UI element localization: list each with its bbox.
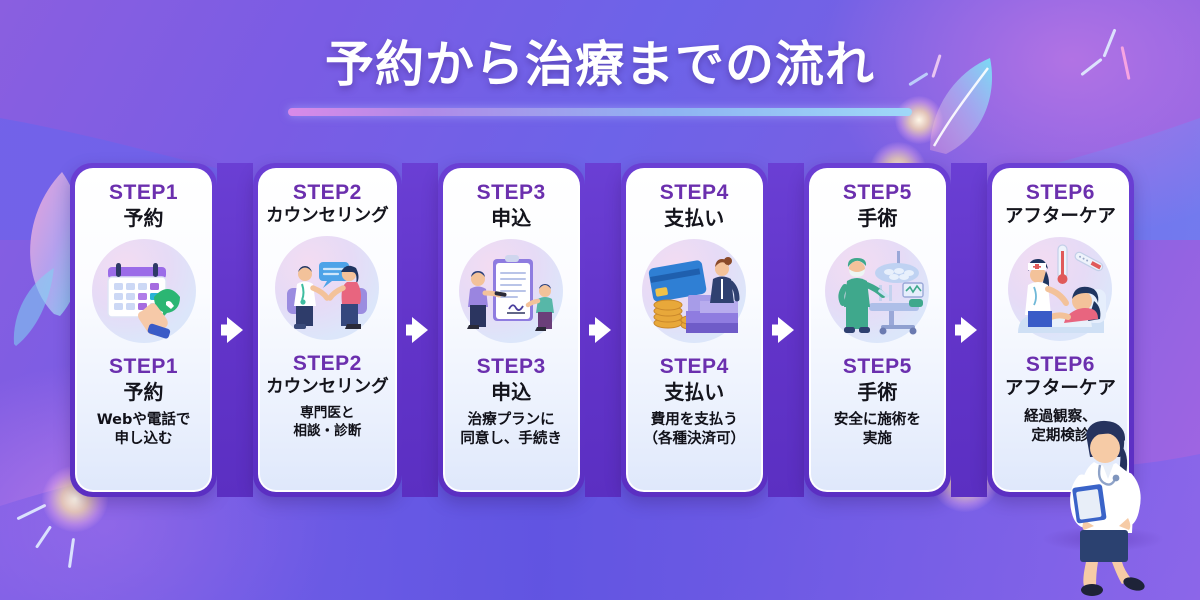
step-label-top: STEP2 [293, 181, 362, 205]
step-label-top: STEP4 [660, 181, 729, 205]
step-title-bottom: 支払い [660, 380, 729, 404]
step-title-top: 支払い [664, 206, 724, 230]
arrow-right-icon [595, 317, 611, 343]
step-repeat-block: STEP1 予約 [109, 355, 178, 404]
step-title-bottom: 手術 [843, 380, 912, 404]
step-repeat-block: STEP5 手術 [843, 355, 912, 404]
connector-5 [951, 163, 987, 497]
payment-counter-icon [642, 239, 746, 343]
step-label-bottom: STEP2 [266, 352, 389, 376]
connector-2 [402, 163, 438, 497]
step-label-top: STEP6 [1026, 181, 1095, 205]
step-description: 費用を支払う （各種決済可） [643, 411, 745, 449]
step-title-top: 予約 [124, 206, 164, 230]
step-title-top: カウンセリング [266, 206, 389, 227]
step-title-bottom: カウンセリング [266, 377, 389, 398]
page-title: 予約から治療までの流れ [0, 36, 1200, 94]
step-label-bottom: STEP3 [477, 355, 546, 379]
connector-4 [768, 163, 804, 497]
step-card-4[interactable]: STEP4 支払い [621, 163, 768, 497]
step-title-top: 手術 [857, 206, 897, 230]
step-card-5[interactable]: STEP5 手術 [804, 163, 951, 497]
doctor-patient-icon [275, 236, 379, 340]
surgery-icon [825, 239, 929, 343]
step-label-bottom: STEP1 [109, 355, 178, 379]
step-description: 安全に施術を 実施 [834, 411, 921, 449]
clipboard-signing-icon [459, 239, 563, 343]
arrow-right-icon [227, 317, 243, 343]
arrow-right-icon [961, 317, 977, 343]
step-description: 専門医と 相談・診断 [293, 405, 361, 441]
step-title-top: アフターケア [1005, 206, 1116, 228]
connector-1 [217, 163, 253, 497]
connector-3 [585, 163, 621, 497]
step-title-bottom: アフターケア [1005, 378, 1116, 400]
step-title-bottom: 予約 [109, 380, 178, 404]
step-repeat-block: STEP4 支払い [660, 355, 729, 404]
step-description: Webや電話で 申し込む [97, 411, 191, 449]
step-label-bottom: STEP5 [843, 355, 912, 379]
title-block: 予約から治療までの流れ [0, 36, 1200, 116]
step-card-3[interactable]: STEP3 申込 [438, 163, 585, 497]
step-repeat-block: STEP6 アフターケア [1005, 353, 1116, 400]
aftercare-nurse-icon [1008, 237, 1112, 341]
step-card-2[interactable]: STEP2 カウンセリング [253, 163, 402, 497]
poster-canvas: 予約から治療までの流れ STEP1 予約 [0, 0, 1200, 600]
calendar-phone-icon [92, 239, 196, 343]
step-description: 治療プランに 同意し、手続き [460, 411, 562, 449]
step-card-1[interactable]: STEP1 予約 [70, 163, 217, 497]
arrow-right-icon [412, 317, 428, 343]
step-repeat-block: STEP2 カウンセリング [266, 352, 389, 398]
steps-flow: STEP1 予約 [70, 163, 1134, 497]
step-label-top: STEP1 [109, 181, 178, 205]
step-label-bottom: STEP6 [1005, 353, 1116, 377]
arrow-right-icon [778, 317, 794, 343]
step-label-top: STEP5 [843, 181, 912, 205]
sparkle-icon-bottom-left [24, 490, 114, 580]
female-doctor-icon [1050, 418, 1158, 600]
step-title-bottom: 申込 [477, 380, 546, 404]
step-label-bottom: STEP4 [660, 355, 729, 379]
step-label-top: STEP3 [477, 181, 546, 205]
title-underline [288, 108, 912, 116]
step-title-top: 申込 [491, 206, 531, 230]
step-repeat-block: STEP3 申込 [477, 355, 546, 404]
